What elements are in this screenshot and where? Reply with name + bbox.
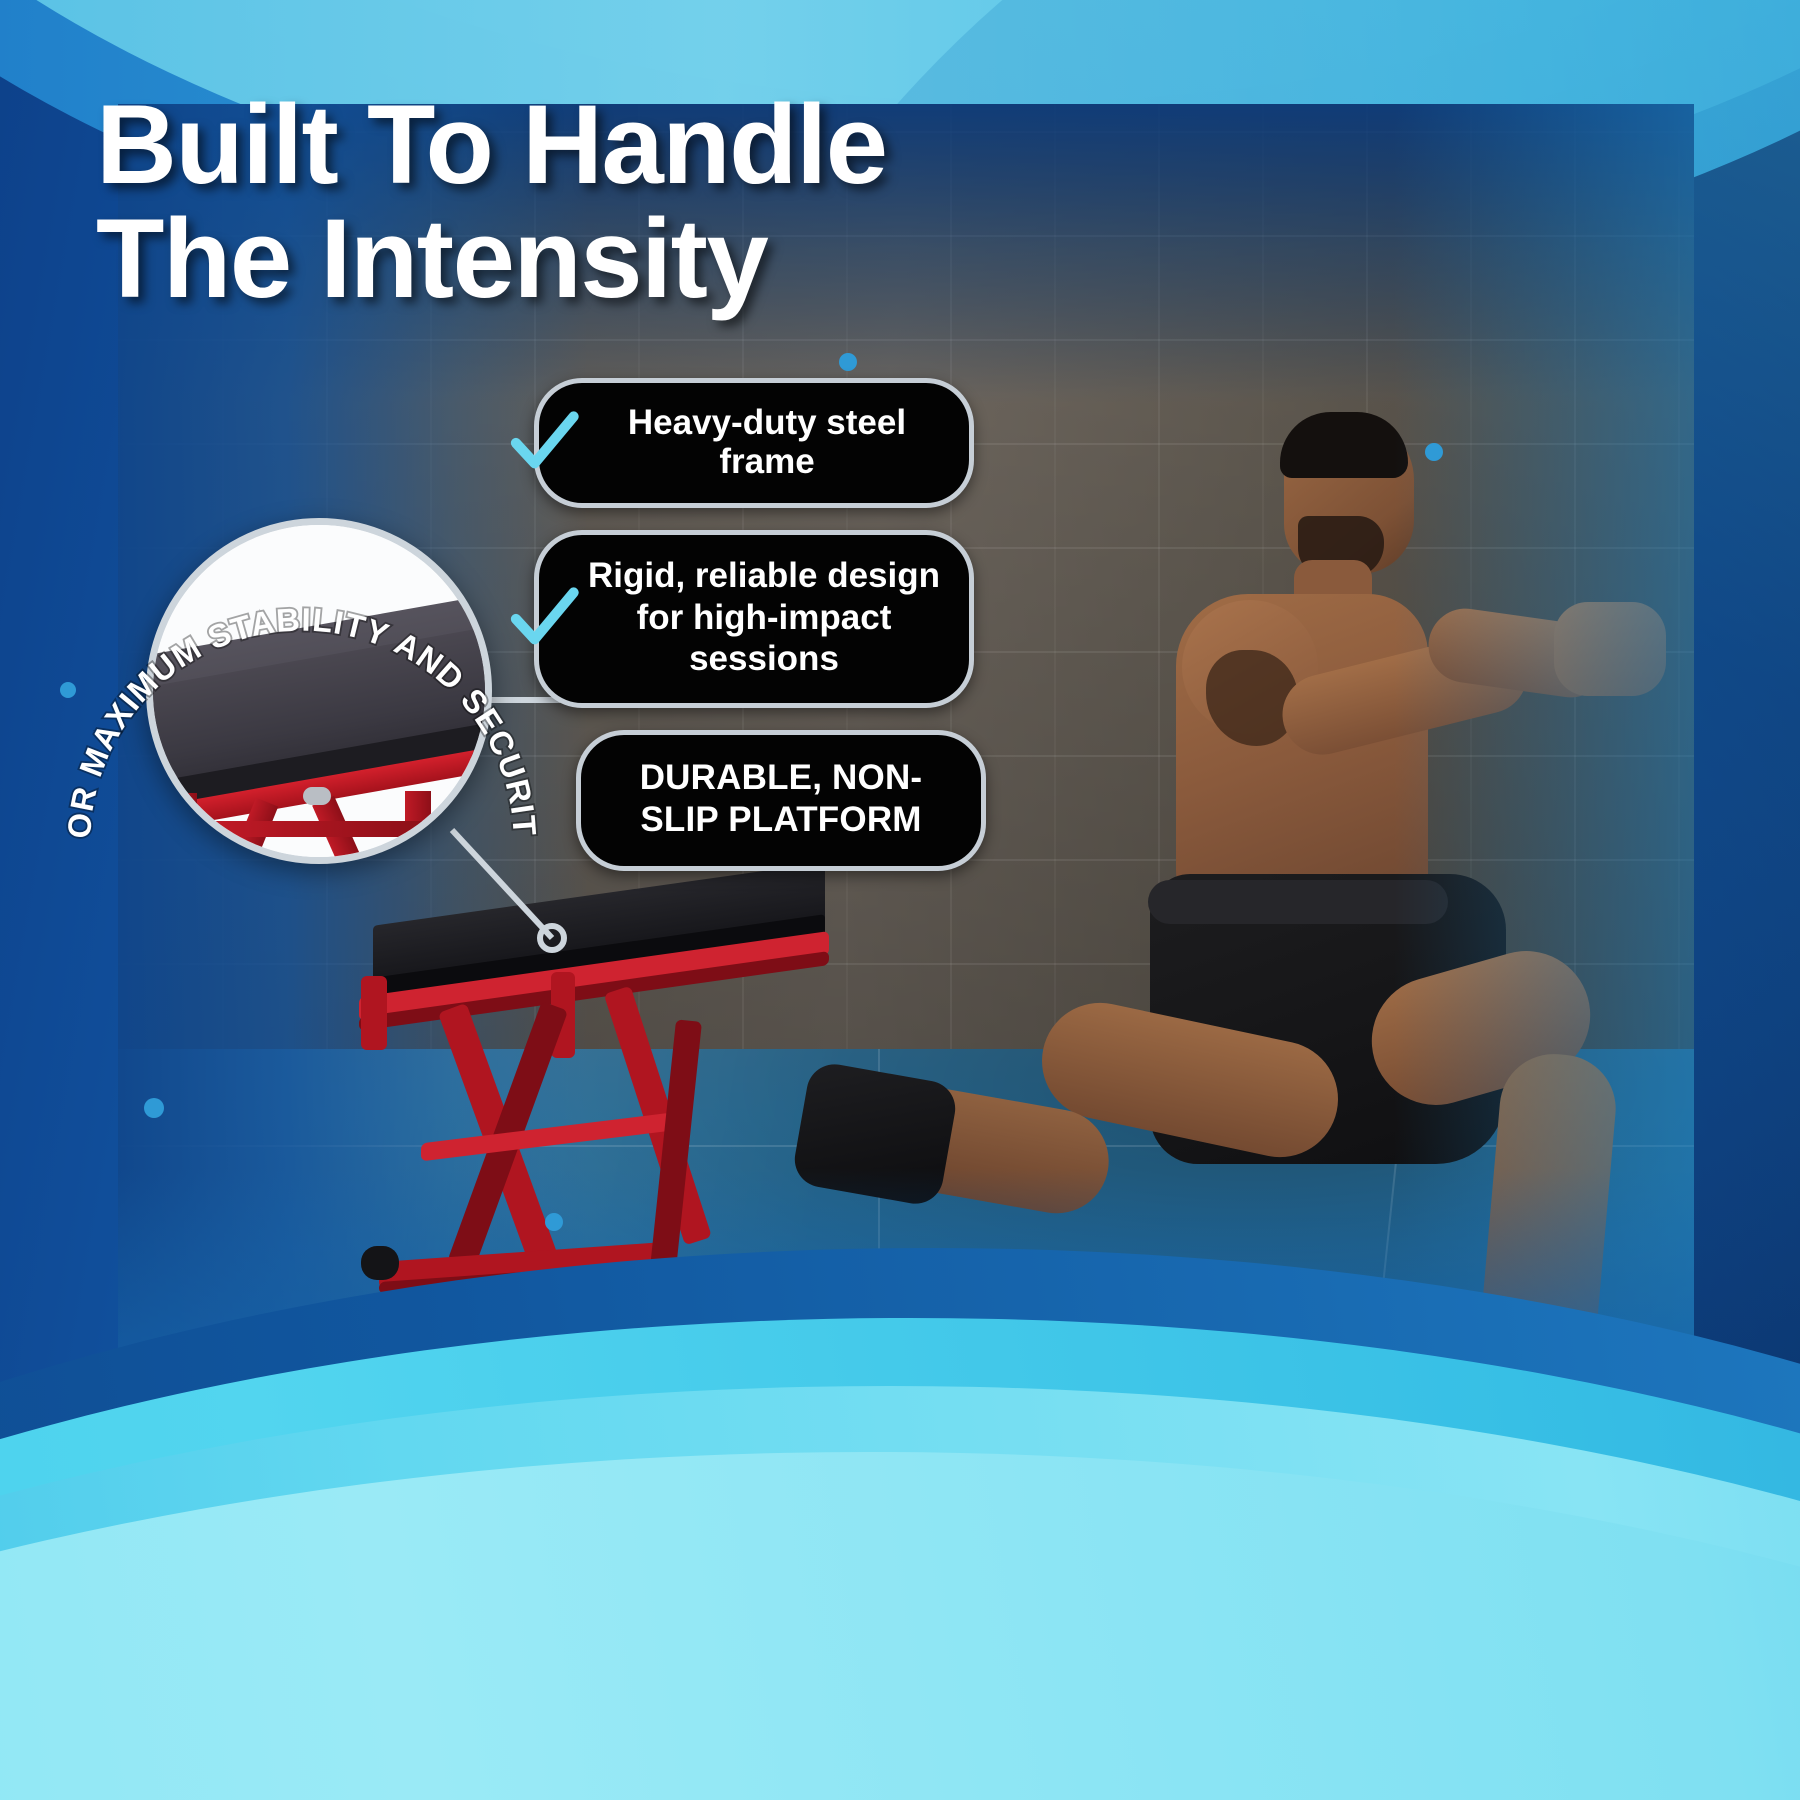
feature-callout-list: Heavy-duty steel frame Rigid, reliable d… [534, 378, 986, 893]
feature-pill-label: Heavy-duty steel frame [591, 403, 943, 481]
feature-pill-rigid-reliable-design[interactable]: Rigid, reliable design for high-impact s… [534, 530, 974, 708]
headline-line-1: Built To Handle [96, 82, 886, 207]
brand-logo: STAMINA® [0, 1660, 1800, 1748]
decor-dot [60, 682, 76, 698]
decor-dot [1477, 1307, 1503, 1333]
poster-canvas: FOR MAXIMUM STABILITY AND SECURITY Built… [0, 0, 1800, 1800]
decor-dot [144, 1098, 164, 1118]
brand-name-text: STAMINA [776, 1663, 1115, 1746]
checkmark-icon [505, 404, 583, 482]
inset-frame-brace [213, 821, 423, 837]
decor-dot [545, 1213, 563, 1231]
inset-frame-leg [171, 793, 197, 864]
feature-pill-label: Rigid, reliable design for high-impact s… [585, 555, 943, 679]
stamina-emblem-icon [666, 1660, 754, 1748]
feature-pill-durable-non-slip-platform[interactable]: DURABLE, NON-SLIP PLATFORM [576, 730, 986, 871]
brand-wordmark: STAMINA® [776, 1662, 1134, 1747]
checkmark-icon [505, 580, 583, 658]
inset-pin [303, 787, 331, 805]
page-title: Built To Handle The Intensity [96, 88, 1076, 316]
platform-closeup-inset [146, 518, 492, 864]
decor-dot [1425, 443, 1443, 461]
trademark-symbol: ® [1118, 1687, 1134, 1709]
feature-pill-label: DURABLE, NON-SLIP PLATFORM [607, 757, 955, 840]
stamina-bench-product [345, 880, 865, 1310]
decor-dot [839, 353, 857, 371]
headline-line-2: The Intensity [96, 202, 1076, 316]
feature-pill-heavy-duty-steel-frame[interactable]: Heavy-duty steel frame [534, 378, 974, 508]
